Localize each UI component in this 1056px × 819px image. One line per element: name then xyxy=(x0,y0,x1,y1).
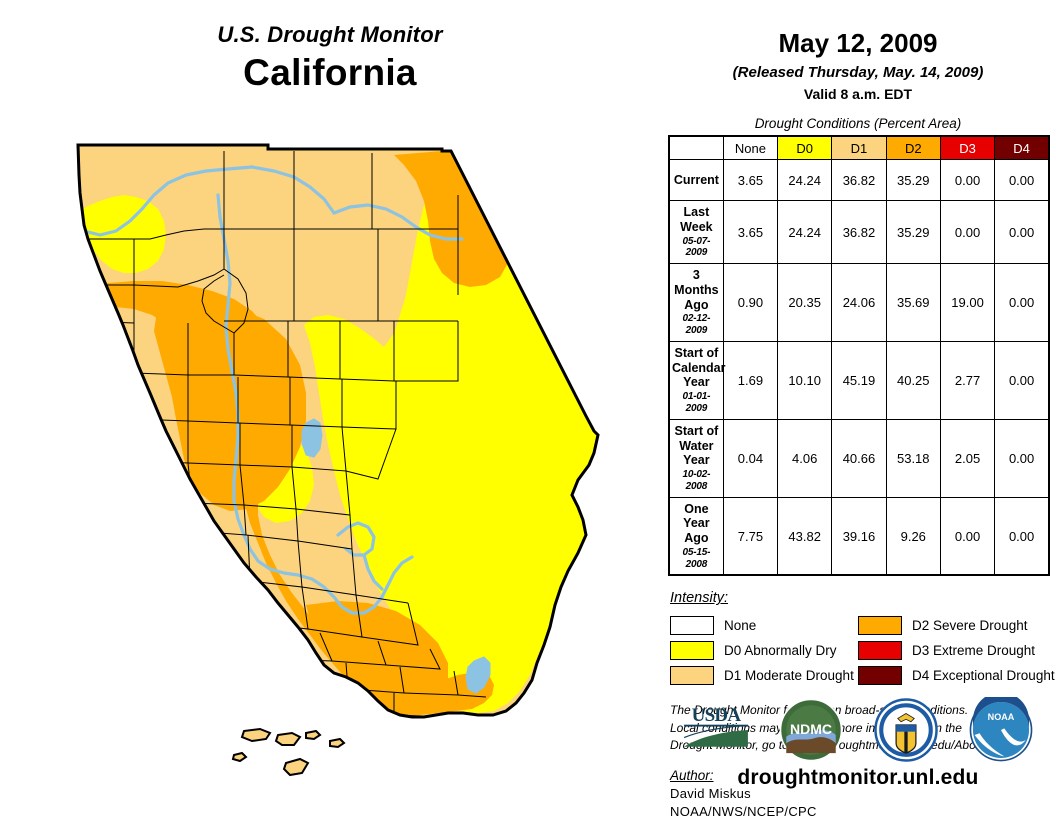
table-cell-d3: 2.77 xyxy=(940,341,994,419)
table-cell-d0: 10.10 xyxy=(778,341,832,419)
partner-logos: USDA NDMC xyxy=(660,690,1056,770)
legend: Intensity: NoneD0 Abnormally DryD1 Moder… xyxy=(670,590,1046,688)
table-cell-d0: 20.35 xyxy=(778,264,832,342)
table-cell-none: 0.04 xyxy=(723,419,777,497)
table-cell-d2: 9.26 xyxy=(886,497,940,575)
noaa-logo-mark: NOAA xyxy=(968,697,1034,763)
table-row-label: One Year Ago05-15-2008 xyxy=(669,497,723,575)
legend-label: D0 Abnormally Dry xyxy=(724,643,837,658)
page-title: California xyxy=(0,52,660,94)
table-row-label: 3 Months Ago02-12-2009 xyxy=(669,264,723,342)
map-panel: U.S. Drought Monitor California xyxy=(0,0,660,816)
table-cell-d2: 35.29 xyxy=(886,160,940,201)
table-cell-none: 0.90 xyxy=(723,264,777,342)
legend-swatch-none-icon xyxy=(670,616,714,635)
table-cell-d1: 45.19 xyxy=(832,341,886,419)
svg-text:USDA: USDA xyxy=(691,705,741,726)
channel-islands xyxy=(233,729,344,775)
california-drought-map[interactable] xyxy=(38,135,638,805)
table-cell-d3: 2.05 xyxy=(940,419,994,497)
legend-item-d3[interactable]: D3 Extreme Drought xyxy=(858,638,1046,663)
table-cell-none: 1.69 xyxy=(723,341,777,419)
release-date: (Released Thursday, May. 14, 2009) xyxy=(660,64,1056,81)
table-cell-d2: 35.29 xyxy=(886,201,940,264)
usda-logo-mark: USDA xyxy=(678,699,754,761)
table-cell-none: 3.65 xyxy=(723,201,777,264)
table-cell-d4: 0.00 xyxy=(995,497,1049,575)
table-cell-d1: 40.66 xyxy=(832,419,886,497)
table-row: Current3.6524.2436.8235.290.000.00 xyxy=(669,160,1049,201)
drought-conditions-table: NoneD0D1D2D3D4 Current3.6524.2436.8235.2… xyxy=(668,135,1050,576)
table-cell-d3: 0.00 xyxy=(940,497,994,575)
legend-item-d0[interactable]: D0 Abnormally Dry xyxy=(670,638,858,663)
legend-label: D4 Exceptional Drought xyxy=(912,668,1055,683)
table-row-label: Current xyxy=(669,160,723,201)
table-cell-d3: 0.00 xyxy=(940,201,994,264)
table-header-row: NoneD0D1D2D3D4 xyxy=(669,136,1049,160)
drought-monitor-page: U.S. Drought Monitor California xyxy=(0,0,1056,816)
table-row-label: Last Week05-07-2009 xyxy=(669,201,723,264)
legend-item-none[interactable]: None xyxy=(670,613,858,638)
legend-item-d1[interactable]: D1 Moderate Drought xyxy=(670,663,858,688)
table-cell-d2: 35.69 xyxy=(886,264,940,342)
table-col-header-d1: D1 xyxy=(832,136,886,160)
table-cell-d2: 40.25 xyxy=(886,341,940,419)
table-cell-d3: 0.00 xyxy=(940,160,994,201)
table-col-header-none: None xyxy=(723,136,777,160)
table-col-header-d0: D0 xyxy=(778,136,832,160)
info-panel: May 12, 2009 (Released Thursday, May. 14… xyxy=(660,0,1056,816)
table-row: Start ofCalendar Year01-01-20091.6910.10… xyxy=(669,341,1049,419)
table-cell-none: 7.75 xyxy=(723,497,777,575)
issue-date: May 12, 2009 xyxy=(660,28,1056,59)
legend-grid: NoneD0 Abnormally DryD1 Moderate Drought… xyxy=(670,613,1046,688)
usda-logo[interactable]: USDA xyxy=(678,697,754,763)
legend-label: None xyxy=(724,618,756,633)
svg-text:NOAA: NOAA xyxy=(987,712,1014,722)
date-block: May 12, 2009 (Released Thursday, May. 14… xyxy=(660,0,1056,102)
table-cell-d1: 24.06 xyxy=(832,264,886,342)
table-row-date: 02-12-2009 xyxy=(672,313,721,337)
table-cell-d4: 0.00 xyxy=(995,419,1049,497)
table-cell-d0: 24.24 xyxy=(778,201,832,264)
table-cell-d1: 39.16 xyxy=(832,497,886,575)
map-title-block: U.S. Drought Monitor California xyxy=(0,22,660,94)
table-row: 3 Months Ago02-12-20090.9020.3524.0635.6… xyxy=(669,264,1049,342)
table-row-label: Start ofWater Year10-02-2008 xyxy=(669,419,723,497)
legend-label: D1 Moderate Drought xyxy=(724,668,854,683)
table-cell-d4: 0.00 xyxy=(995,160,1049,201)
table-row: One Year Ago05-15-20087.7543.8239.169.26… xyxy=(669,497,1049,575)
legend-column-1: NoneD0 Abnormally DryD1 Moderate Drought xyxy=(670,613,858,688)
table-cell-d4: 0.00 xyxy=(995,341,1049,419)
table-col-header-d2: D2 xyxy=(886,136,940,160)
table-cell-d3: 19.00 xyxy=(940,264,994,342)
noaa-logo[interactable]: NOAA xyxy=(963,697,1039,763)
table-cell-d4: 0.00 xyxy=(995,201,1049,264)
table-cell-d0: 43.82 xyxy=(778,497,832,575)
legend-swatch-d1-icon xyxy=(670,666,714,685)
legend-label: D3 Extreme Drought xyxy=(912,643,1035,658)
site-url[interactable]: droughtmonitor.unl.edu xyxy=(660,766,1056,790)
table-cell-d1: 36.82 xyxy=(832,160,886,201)
table-row-date: 05-15-2008 xyxy=(672,547,721,571)
legend-item-d4[interactable]: D4 Exceptional Drought xyxy=(858,663,1046,688)
legend-swatch-d4-icon xyxy=(858,666,902,685)
table-row-date: 01-01-2009 xyxy=(672,391,721,415)
ndmc-logo-mark: NDMC xyxy=(778,697,844,763)
table-row-label: Start ofCalendar Year01-01-2009 xyxy=(669,341,723,419)
legend-title: Intensity: xyxy=(670,590,1046,606)
usdc-logo-mark xyxy=(873,697,939,763)
author-affiliation: NOAA/NWS/NCEP/CPC xyxy=(670,804,1056,819)
legend-item-d2[interactable]: D2 Severe Drought xyxy=(858,613,1046,638)
legend-column-2: D2 Severe DroughtD3 Extreme DroughtD4 Ex… xyxy=(858,613,1046,688)
san-francisco-bay xyxy=(148,531,210,597)
drought-conditions-table-wrap: NoneD0D1D2D3D4 Current3.6524.2436.8235.2… xyxy=(660,131,1056,576)
map-supertitle: U.S. Drought Monitor xyxy=(0,22,660,48)
table-cell-d0: 24.24 xyxy=(778,160,832,201)
table-col-header-d4: D4 xyxy=(995,136,1049,160)
legend-swatch-d2-icon xyxy=(858,616,902,635)
table-body: Current3.6524.2436.8235.290.000.00Last W… xyxy=(669,160,1049,576)
table-caption: Drought Conditions (Percent Area) xyxy=(660,116,1056,131)
table-header: NoneD0D1D2D3D4 xyxy=(669,136,1049,160)
table-corner-cell xyxy=(669,136,723,160)
legend-swatch-d0-icon xyxy=(670,641,714,660)
table-col-header-d3: D3 xyxy=(940,136,994,160)
svg-text:NDMC: NDMC xyxy=(789,721,831,737)
map-svg xyxy=(38,135,638,805)
table-row: Last Week05-07-20093.6524.2436.8235.290.… xyxy=(669,201,1049,264)
usdc-logo[interactable] xyxy=(868,697,944,763)
table-cell-d2: 53.18 xyxy=(886,419,940,497)
table-cell-d0: 4.06 xyxy=(778,419,832,497)
legend-label: D2 Severe Drought xyxy=(912,618,1028,633)
ndmc-logo[interactable]: NDMC xyxy=(773,697,849,763)
legend-swatch-d3-icon xyxy=(858,641,902,660)
table-cell-none: 3.65 xyxy=(723,160,777,201)
table-cell-d4: 0.00 xyxy=(995,264,1049,342)
valid-time: Valid 8 a.m. EDT xyxy=(660,86,1056,102)
table-cell-d1: 36.82 xyxy=(832,201,886,264)
table-row: Start ofWater Year10-02-20080.044.0640.6… xyxy=(669,419,1049,497)
table-row-date: 05-07-2009 xyxy=(672,236,721,260)
table-row-date: 10-02-2008 xyxy=(672,469,721,493)
